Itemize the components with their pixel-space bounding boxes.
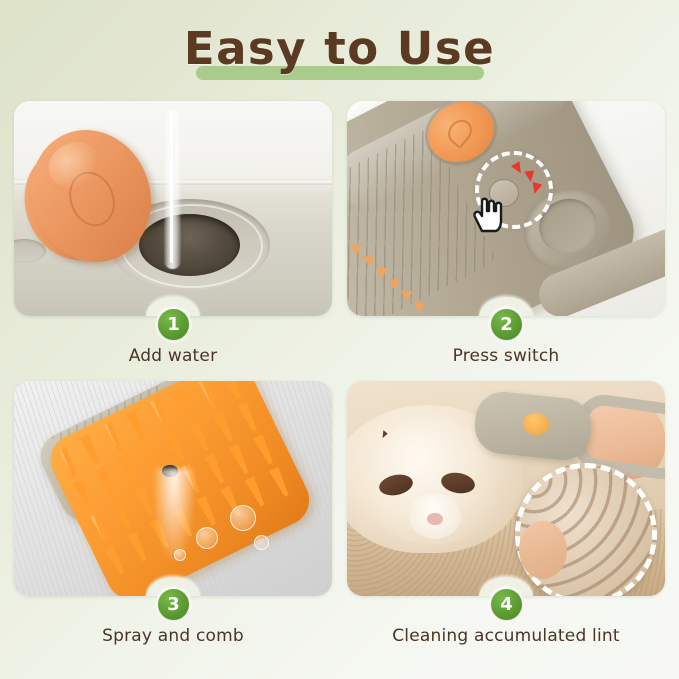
easy-to-use-infographic: Easy to Use 1 Add water (0, 0, 679, 679)
page-title: Easy to Use (0, 18, 679, 80)
step-2-photo (347, 101, 665, 316)
pointing-hand-cursor-icon (469, 191, 507, 233)
water-bubble (230, 505, 256, 531)
step-card-1: 1 Add water (11, 96, 335, 376)
step-3-number-badge: 3 (158, 589, 189, 620)
step-card-3: 3 Spray and comb (11, 376, 335, 656)
step-2-number-badge: 2 (491, 309, 522, 340)
inset-thumb (519, 521, 567, 579)
step-2-illustration (347, 101, 665, 316)
step-4-photo (347, 381, 665, 596)
water-bubble (196, 527, 218, 549)
step-card-4: 4 Cleaning accumulated lint (344, 376, 668, 656)
step-3-caption: Spray and comb (11, 626, 335, 646)
cat-nose (427, 513, 443, 525)
title-block: Easy to Use (0, 18, 679, 90)
step-1-illustration (14, 101, 332, 316)
step-3-illustration (14, 381, 332, 596)
step-1-photo (14, 101, 332, 316)
step-1-caption: Add water (11, 346, 335, 366)
water-bubble (174, 549, 186, 561)
water-stream-highlight (170, 111, 173, 263)
step-4-illustration (347, 381, 665, 596)
step-2-caption: Press switch (344, 346, 668, 366)
press-spark-icon (524, 170, 535, 182)
step-4-number-badge: 4 (491, 589, 522, 620)
step-3-photo (14, 381, 332, 596)
step-1-number-badge: 1 (158, 309, 189, 340)
water-bubble (254, 535, 269, 550)
step-4-caption: Cleaning accumulated lint (344, 626, 668, 646)
step-card-2: 2 Press switch (344, 96, 668, 376)
steam-spray (154, 469, 194, 559)
reservoir-hole-inner (139, 214, 240, 276)
